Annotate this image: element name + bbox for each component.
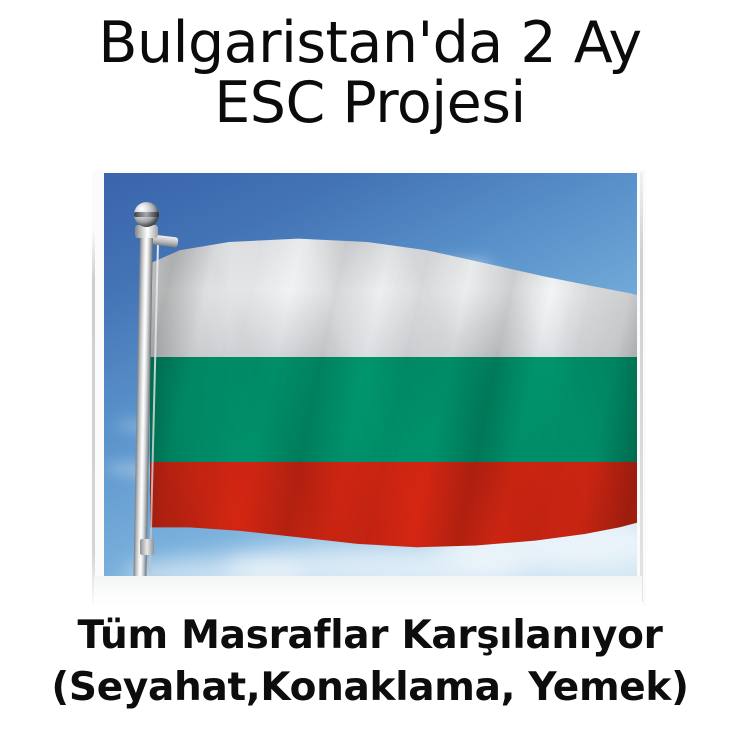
poster-canvas: Bulgaristan'da 2 Ay ESC Projesi (0, 0, 740, 740)
flag-cloth (150, 237, 637, 567)
poster-caption: Tüm Masraflar Karşılanıyor (Seyahat,Kona… (0, 610, 740, 715)
photo-bottom-margin (94, 576, 642, 606)
bulgarian-flag (150, 237, 637, 567)
flag-fly-shadow (555, 237, 637, 567)
poster-caption-line-2: (Seyahat,Konaklama, Yemek) (0, 662, 740, 714)
scan-edge-right-artifact (640, 172, 643, 602)
poster-title: Bulgaristan'da 2 Ay ESC Projesi (0, 14, 740, 132)
flag-hoist-shadow (150, 237, 229, 567)
photo-frame (92, 170, 646, 606)
scan-edge-left-artifact (92, 228, 95, 606)
poster-caption-line-1: Tüm Masraflar Karşılanıyor (0, 610, 740, 662)
flagpole-finial-band (134, 212, 159, 217)
poster-title-line-2: ESC Projesi (0, 74, 740, 132)
bulgarian-flag-photo (104, 173, 637, 578)
flagpole-cleat (140, 539, 154, 555)
poster-title-line-1: Bulgaristan'da 2 Ay (0, 14, 740, 72)
